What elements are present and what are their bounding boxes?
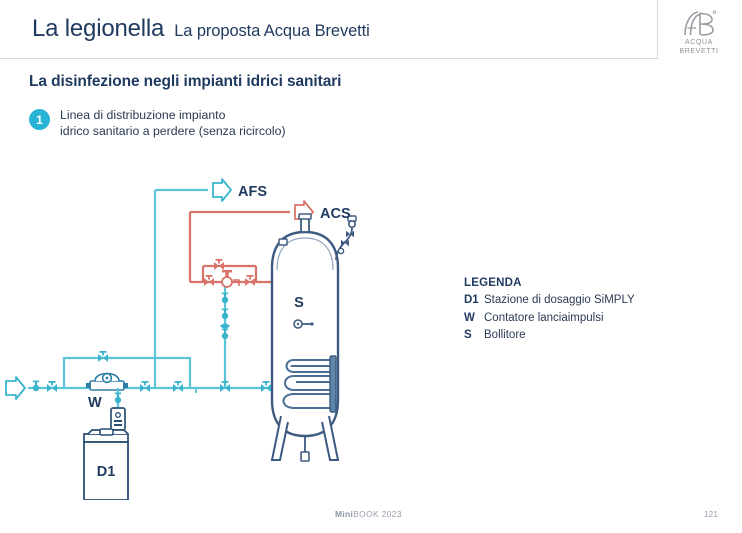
bullet-text-line-1: Linea di distribuzione impianto: [60, 108, 286, 124]
injection-valve: [115, 393, 121, 404]
drain-valve-icon: [301, 452, 309, 461]
legend-title: LEGENDA: [464, 277, 635, 289]
footer-brand-bold: Mini: [335, 509, 353, 519]
label-dosing-d1: D1: [97, 464, 116, 480]
ab-monogram-icon: [681, 9, 717, 39]
meter-outlet-valve: [140, 381, 150, 392]
bullet-number-badge: 1: [29, 109, 50, 130]
top-nozzle: [301, 218, 309, 232]
legend-key: S: [464, 328, 484, 342]
thermostatic-mixing-valve-icon: [222, 270, 239, 287]
schematic-svg: AFS ACS S W D1: [0, 160, 460, 500]
riser-valve-2: [222, 309, 228, 320]
inlet-valve: [47, 381, 57, 392]
page-title: La legionella La proposta Acqua Brevetti: [32, 15, 370, 43]
bypass-valve: [98, 351, 108, 362]
legend-row: D1 Stazione di dosaggio SiMPLY: [464, 293, 635, 307]
boiler-tank: [272, 214, 338, 461]
bullet-text: Linea di distribuzione impianto idrico s…: [60, 108, 286, 139]
riser-valve-3: [222, 329, 228, 340]
acqua-brevetti-logo: ACQUA BREVETTI: [670, 9, 728, 61]
hot-valve-b: [245, 275, 255, 286]
legend-key: W: [464, 311, 484, 325]
registered-mark-icon: [713, 11, 716, 14]
side-nozzle: [279, 239, 287, 245]
water-meter-icon: [86, 374, 128, 391]
riser-valve-1: [222, 293, 228, 304]
bullet-text-line-2: idrico sanitario a perdere (senza ricirc…: [60, 124, 286, 140]
legend-row: S Bollitore: [464, 328, 635, 342]
legend-value: Stazione di dosaggio SiMPLY: [484, 293, 635, 307]
coil-header-plate: [330, 356, 336, 412]
line-valve-a: [173, 381, 183, 392]
label-acs: ACS: [320, 206, 351, 222]
page-number: 121: [704, 509, 718, 519]
boiler-inlet-valve: [261, 381, 271, 392]
cold-water-pipe-network: [28, 190, 272, 410]
inlet-arrow-icon: [6, 377, 25, 399]
logo-line-1: ACQUA: [670, 39, 728, 48]
footer-brand: MiniBOOK 2023: [335, 509, 402, 519]
page-title-sub: La proposta Acqua Brevetti: [174, 22, 370, 41]
legend-value: Contatore lanciaimpulsi: [484, 311, 604, 325]
footer-brand-rest: BOOK 2023: [353, 509, 402, 519]
line-inlet-tap: [33, 381, 39, 392]
label-afs: AFS: [238, 184, 267, 200]
bullet-item-1: 1 Linea di distribuzione impianto idrico…: [29, 108, 286, 139]
legend: LEGENDA D1 Stazione di dosaggio SiMPLY W…: [464, 277, 635, 346]
safety-valve-group: [336, 216, 356, 260]
legend-key: D1: [464, 293, 484, 307]
legend-value: Bollitore: [484, 328, 526, 342]
legend-row: W Contatore lanciaimpulsi: [464, 311, 635, 325]
logo-line-2: BREVETTI: [670, 48, 728, 57]
hot-valve-a: [204, 275, 214, 286]
label-meter-w: W: [88, 395, 102, 411]
hydraulic-schematic-diagram: AFS ACS S W D1: [0, 160, 460, 500]
section-heading: La disinfezione negli impianti idrici sa…: [29, 73, 341, 91]
label-boiler-s: S: [294, 295, 304, 311]
dosing-pump-icon: [111, 408, 125, 430]
page-title-main: La legionella: [32, 15, 164, 43]
expansion-fitting-icon: [220, 324, 230, 329]
mixing-loop-valve: [214, 259, 224, 270]
afs-arrow-icon: [213, 179, 231, 201]
